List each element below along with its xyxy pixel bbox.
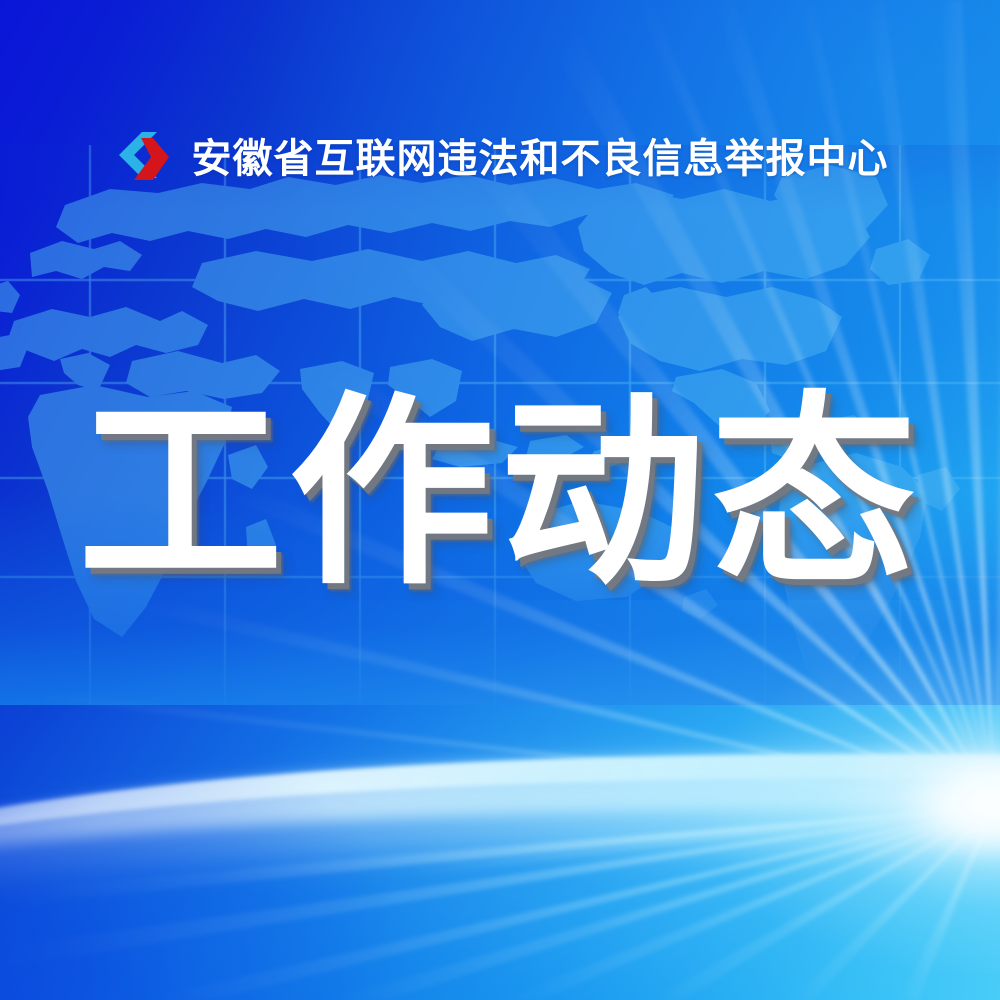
header-bar: 安徽省互联网违法和不良信息举报中心 xyxy=(0,128,1000,190)
poster-canvas: 安徽省互联网违法和不良信息举报中心 工作动态 xyxy=(0,0,1000,1000)
page-title: 工作动态 xyxy=(0,393,1000,598)
chevron-pair-logo-icon xyxy=(112,128,174,190)
header-title: 安徽省互联网违法和不良信息举报中心 xyxy=(192,139,889,179)
